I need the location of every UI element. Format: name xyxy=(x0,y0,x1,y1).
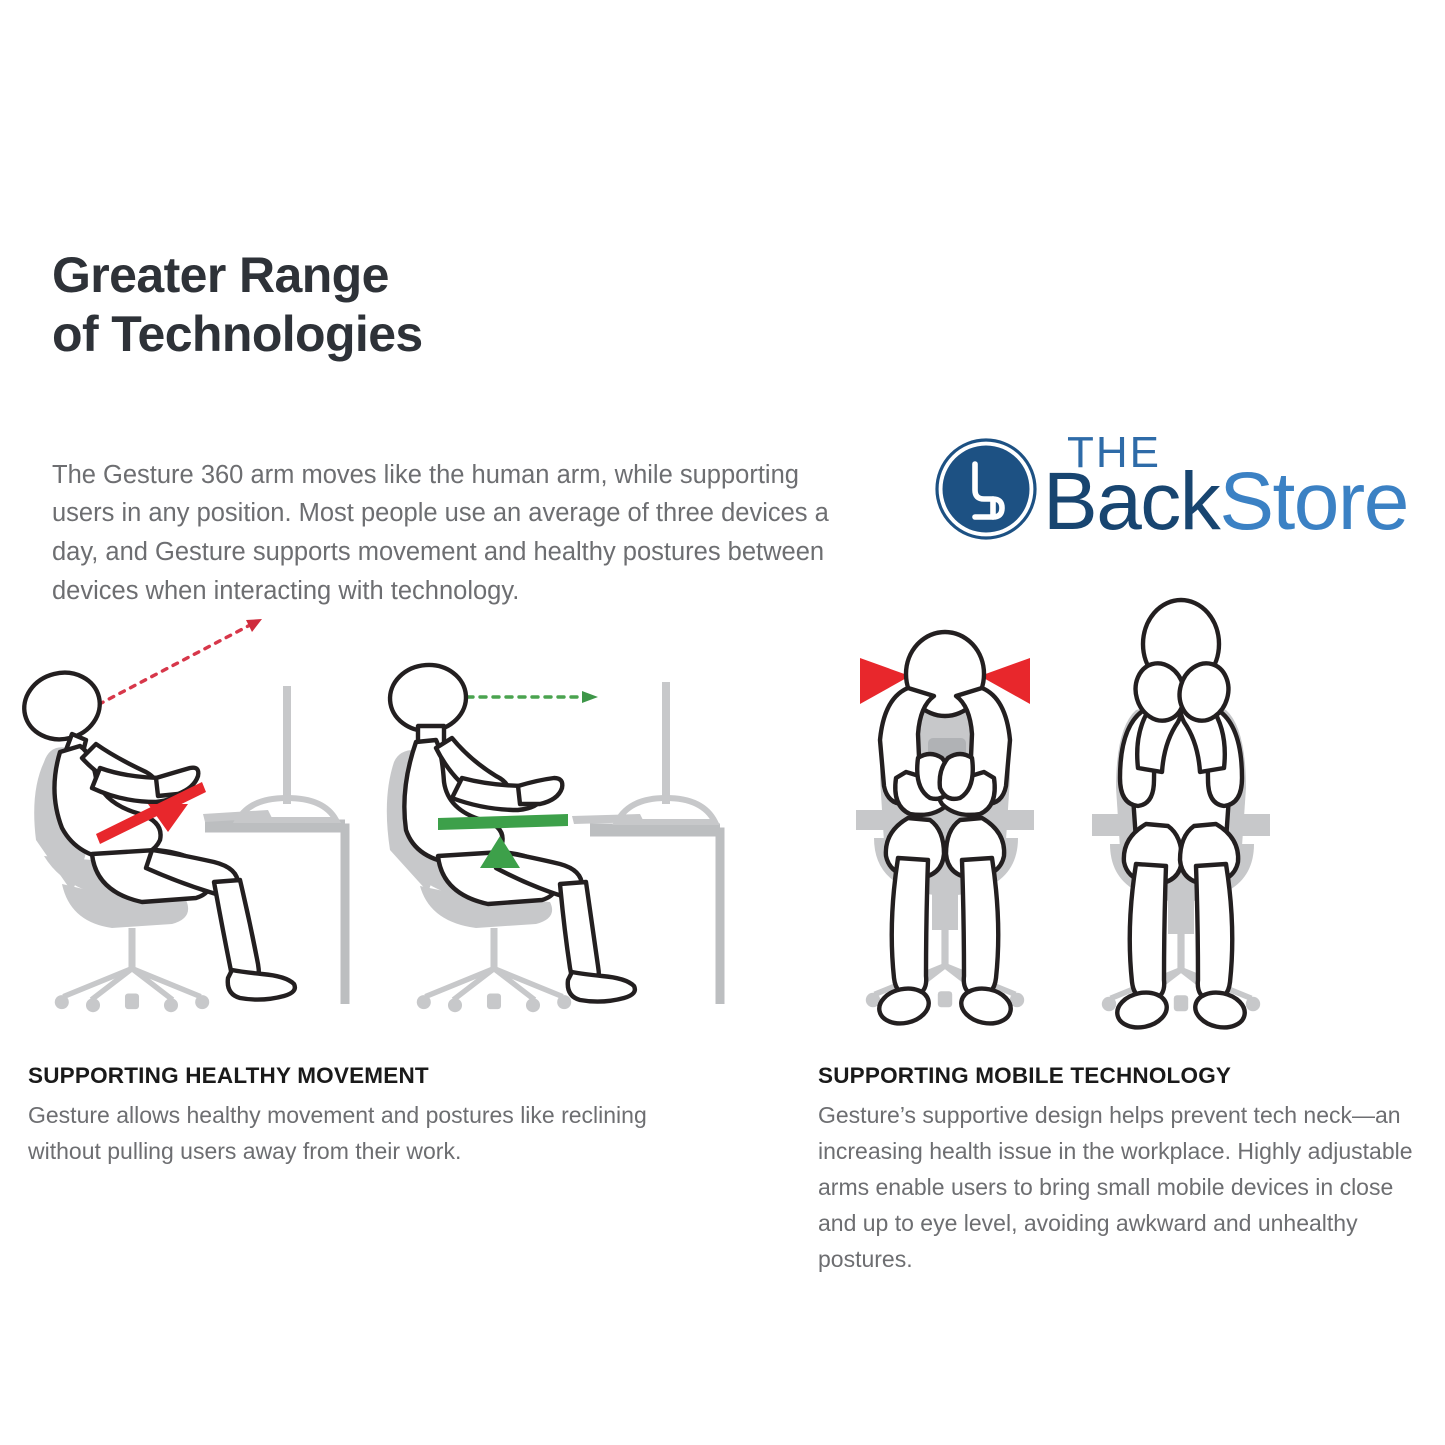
page-title-line-1: Greater Range xyxy=(52,247,389,303)
chair-base-1 xyxy=(55,928,209,1012)
desk-and-monitor-1 xyxy=(203,686,345,1004)
intro-paragraph: The Gesture 360 arm moves like the human… xyxy=(52,456,867,611)
page-title-line-2: of Technologies xyxy=(52,305,812,364)
red-sightline-dotted-arrow xyxy=(88,619,262,710)
illustration-band xyxy=(0,592,1445,1040)
logo-wordmark: THE BackStore xyxy=(1043,425,1413,545)
figure-tech-neck-front-view xyxy=(856,632,1034,1028)
figure-reclined-user-side-view xyxy=(17,619,345,1012)
caption-body: Gesture allows healthy movement and post… xyxy=(28,1098,668,1170)
figure-device-at-eye-level-front-view xyxy=(1092,600,1270,1032)
brand-logo[interactable]: THE BackStore xyxy=(935,425,1410,545)
caption-mobile-technology: SUPPORTING MOBILE TECHNOLOGY Gesture’s s… xyxy=(818,1062,1436,1277)
chair-base-2 xyxy=(417,928,571,1012)
green-sightline-dotted-arrow xyxy=(454,691,598,703)
logo-backstore-text: BackStore xyxy=(1043,461,1408,543)
caption-healthy-movement: SUPPORTING HEALTHY MOVEMENT Gesture allo… xyxy=(28,1062,668,1170)
figure-upright-user-side-view xyxy=(387,662,720,1012)
logo-store-text: Store xyxy=(1219,456,1408,547)
page-title: Greater Range of Technologies xyxy=(52,246,812,364)
caption-body: Gesture’s supportive design helps preven… xyxy=(818,1098,1436,1277)
caption-title: SUPPORTING MOBILE TECHNOLOGY xyxy=(818,1062,1436,1089)
logo-back-text: Back xyxy=(1043,456,1219,547)
logo-mark-icon xyxy=(935,438,1037,540)
caption-title: SUPPORTING HEALTHY MOVEMENT xyxy=(28,1062,668,1089)
marketing-page: Greater Range of Technologies The Gestur… xyxy=(0,0,1445,1445)
